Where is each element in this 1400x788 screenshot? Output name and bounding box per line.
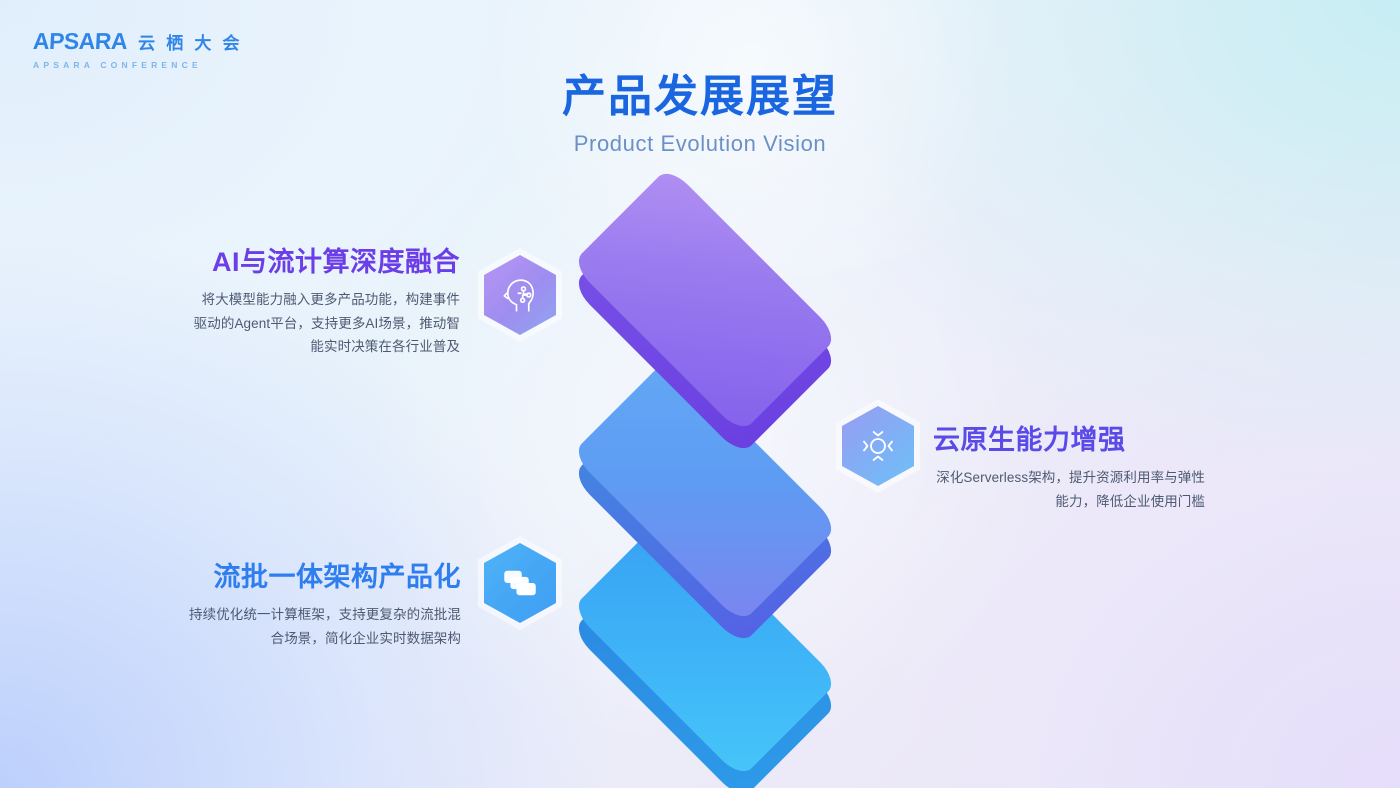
- callout-heading: 流批一体架构产品化: [186, 561, 461, 593]
- slide-canvas: APSARA 云 栖 大 会 APSARA CONFERENCE 产品发展展望 …: [0, 0, 1400, 788]
- stacked-cards-icon: [499, 562, 541, 604]
- callout-cloud-native: 云原生能力增强 深化Serverless架构，提升资源利用率与弹性能力，降低企业…: [933, 424, 1205, 513]
- title-block: 产品发展展望 Product Evolution Vision: [0, 72, 1400, 157]
- sun-burst-icon: [857, 425, 899, 467]
- ai-head-icon: [499, 274, 541, 316]
- callout-body: 将大模型能力融入更多产品功能，构建事件驱动的Agent平台，支持更多AI场景，推…: [190, 288, 460, 358]
- callout-stream-batch: 流批一体架构产品化 持续优化统一计算框架，支持更复杂的流批混合场景，简化企业实时…: [186, 561, 461, 650]
- hex-badge-stream-batch[interactable]: [478, 536, 562, 630]
- logo-chinese-name: 云 栖 大 会: [138, 29, 243, 54]
- callout-body: 持续优化统一计算框架，支持更复杂的流批混合场景，简化企业实时数据架构: [186, 603, 461, 649]
- hex-badge-cloud-native[interactable]: [836, 399, 920, 493]
- logo-primary-row: APSARA 云 栖 大 会: [33, 28, 243, 55]
- page-subtitle: Product Evolution Vision: [0, 131, 1400, 157]
- logo-wordmark: APSARA: [32, 28, 128, 55]
- logo-subtitle: APSARA CONFERENCE: [33, 60, 243, 70]
- page-title: 产品发展展望: [0, 72, 1400, 123]
- layer-slab-top: [535, 180, 875, 380]
- callout-heading: 云原生能力增强: [933, 424, 1205, 456]
- callout-heading: AI与流计算深度融合: [190, 246, 460, 278]
- isometric-layer-stack: [520, 180, 890, 700]
- callout-body: 深化Serverless架构，提升资源利用率与弹性能力，降低企业使用门槛: [933, 466, 1205, 512]
- hex-badge-ai-stream-fusion[interactable]: [478, 248, 562, 342]
- callout-ai-stream-fusion: AI与流计算深度融合 将大模型能力融入更多产品功能，构建事件驱动的Agent平台…: [190, 246, 460, 358]
- apsara-conference-logo: APSARA 云 栖 大 会 APSARA CONFERENCE: [33, 28, 243, 70]
